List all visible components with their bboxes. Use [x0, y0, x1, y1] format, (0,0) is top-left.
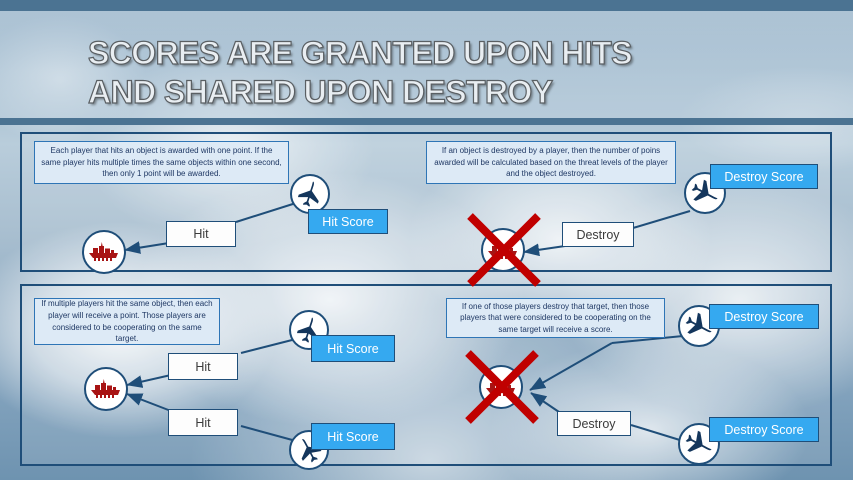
header-divider-band: [0, 118, 853, 125]
badge-destroy-score[interactable]: Destroy Score: [710, 164, 818, 189]
ship-silhouette: [89, 378, 123, 400]
ship-silhouette: [87, 241, 121, 263]
fighter-jet-silhouette: [295, 179, 325, 209]
ship-target-icon: [82, 230, 126, 274]
slide-header: SCORES ARE GRANTED UPON HITS AND SHARED …: [0, 11, 853, 118]
page-title-line-1: SCORES ARE GRANTED UPON HITS: [88, 34, 808, 73]
note-hit-rules: Each player that hits an object is award…: [34, 141, 289, 184]
label-hit[interactable]: Hit: [166, 221, 236, 247]
badge-destroy-score[interactable]: Destroy Score: [709, 304, 819, 329]
note-destroy-rules: If an object is destroyed by a player, t…: [426, 141, 676, 184]
note-shared-destroy-rules: If one of those players destroy that tar…: [446, 298, 665, 338]
badge-destroy-score[interactable]: Destroy Score: [709, 417, 819, 442]
badge-hit-score[interactable]: Hit Score: [311, 335, 395, 362]
page-title: SCORES ARE GRANTED UPON HITS AND SHARED …: [88, 34, 808, 112]
label-hit[interactable]: Hit: [168, 353, 238, 380]
fighter-jet-icon: [290, 174, 330, 214]
ship-target-icon: [84, 367, 128, 411]
label-hit[interactable]: Hit: [168, 409, 238, 436]
top-accent-band: [0, 0, 853, 11]
label-destroy[interactable]: Destroy: [562, 222, 634, 247]
page-title-line-2: AND SHARED UPON DESTROY: [88, 73, 808, 112]
ship-target-destroyed-icon: [479, 365, 523, 409]
badge-hit-score[interactable]: Hit Score: [311, 423, 395, 450]
ship-silhouette: [486, 239, 520, 261]
badge-hit-score[interactable]: Hit Score: [308, 209, 388, 234]
ship-silhouette: [484, 376, 518, 398]
label-destroy[interactable]: Destroy: [557, 411, 631, 436]
ship-target-destroyed-icon: [481, 228, 525, 272]
note-multi-hit-rules: If multiple players hit the same object,…: [34, 298, 220, 345]
